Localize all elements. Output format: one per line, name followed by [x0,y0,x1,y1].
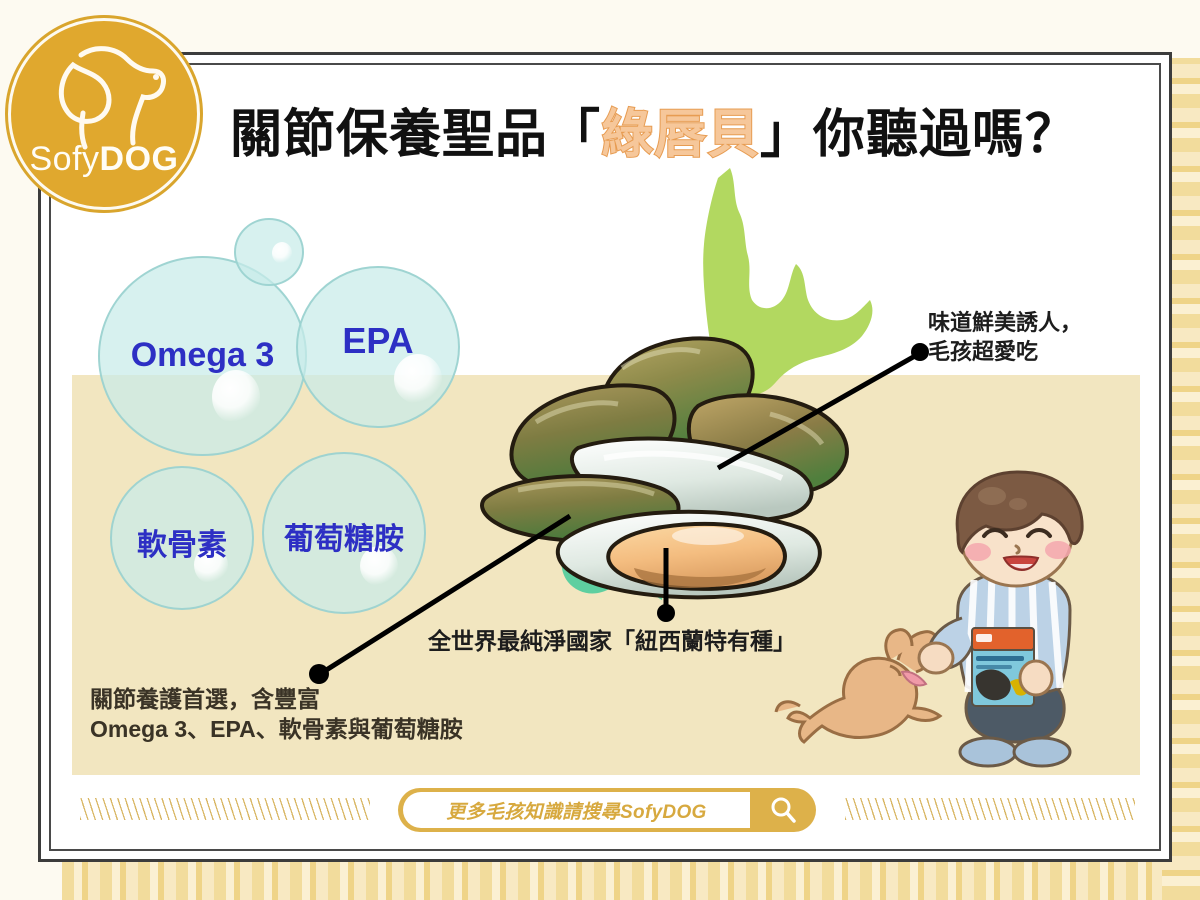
bubble-glucosamine: 葡萄糖胺 [262,452,426,614]
bubble-highlight [212,370,260,424]
dog-head-icon [11,21,197,207]
magnifier-icon [768,795,798,825]
annotation-top-right: 味道鮮美誘人， 毛孩超愛吃 [928,308,1082,366]
logo-text-sofy: Sofy [30,140,100,178]
search-input[interactable]: 更多毛孩知識請搜尋SofyDOG [403,792,750,828]
sofydog-logo[interactable]: SofyDOG [8,18,200,210]
title-part1: 關節保養聖品「 [230,106,601,164]
annotation-middle: 全世界最純淨國家「紐西蘭特有種」 [428,626,796,656]
boy-and-dog-scene [770,460,1150,780]
annotation-bottom-left-line1: 關節養護首選，含豐富 [90,684,463,714]
bubble-label: 葡萄糖胺 [264,514,424,558]
hatch-decoration-right [845,798,1135,820]
logo-wordmark: SofyDOG [11,140,197,179]
boy-with-product [919,472,1082,766]
running-dog [776,630,940,742]
logo-text-dog: DOG [100,140,179,178]
search-placeholder-text: 更多毛孩知識請搜尋SofyDOG [446,797,706,824]
annotation-top-right-line1: 味道鮮美誘人， [928,308,1082,337]
annotation-bottom-left-line2: Omega 3、EPA、軟骨素與葡萄糖胺 [90,714,463,744]
hatch-decoration-left [80,798,370,820]
page-title: 關節保養聖品「綠唇貝」你聽過嗎？ [230,92,1130,166]
bubble-highlight [272,242,292,264]
search-button[interactable] [750,788,816,832]
title-highlight: 綠唇貝 [601,106,760,164]
bottom-stripe-band [62,862,1200,900]
infographic-canvas: Omega 3 EPA 軟骨素 葡萄糖胺 [0,0,1200,900]
bubble-small-top [234,218,304,286]
annotation-top-right-line2: 毛孩超愛吃 [928,337,1082,366]
annotation-bottom-left: 關節養護首選，含豐富 Omega 3、EPA、軟骨素與葡萄糖胺 [90,684,463,745]
search-cta-bar[interactable]: 更多毛孩知識請搜尋SofyDOG [398,788,816,832]
bubble-chondroitin: 軟骨素 [110,466,254,610]
bubble-label: Omega 3 [100,336,305,375]
bubble-label: EPA [298,320,458,362]
title-part2: 」你聽過嗎？ [760,106,1078,164]
bubble-label: 軟骨素 [112,520,252,564]
bubble-omega3: Omega 3 [98,256,307,456]
bubble-epa: EPA [296,266,460,428]
